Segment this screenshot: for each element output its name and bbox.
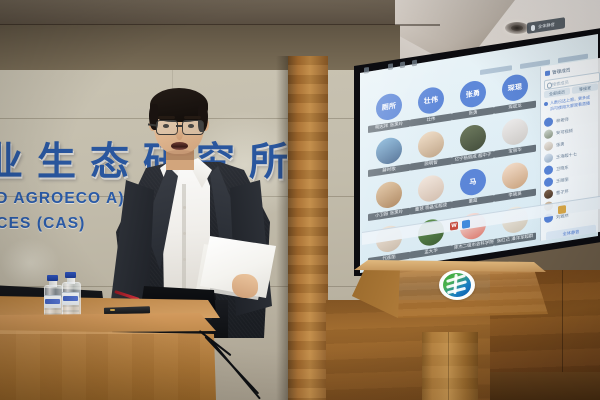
avatar — [544, 117, 553, 127]
podium-column-edge — [448, 332, 449, 400]
participant-name: 董超 — [452, 195, 494, 208]
mouth — [171, 142, 188, 150]
participant-name: 琛琨龙 — [494, 101, 536, 114]
avatar: 马 — [460, 167, 486, 197]
link-icon[interactable] — [412, 60, 417, 67]
mic-tooltip: 全体静音 — [527, 17, 565, 34]
participant-name: 李晓英 — [494, 189, 536, 202]
window-icon[interactable] — [364, 67, 369, 74]
panel-title: 管理成员 — [552, 67, 570, 76]
folder-icon[interactable] — [558, 204, 566, 213]
participant-name: 壮伟 — [410, 113, 452, 126]
avatar — [544, 129, 553, 139]
participant-name: 王海超十七 — [556, 151, 577, 160]
avatar — [502, 117, 528, 147]
table-front-grain — [0, 330, 222, 400]
participant-name: 明志祥 张黑玲 — [368, 120, 410, 133]
bottle-cap — [47, 275, 58, 281]
participant-name: 宝丽华 — [494, 145, 536, 158]
bottle-label-band — [63, 296, 78, 301]
podium-neck — [416, 314, 482, 336]
microphone-icon — [531, 24, 535, 31]
participant-name: 张勇 — [452, 107, 494, 120]
participant-name: 董慧 杨晶生超成 — [410, 201, 452, 214]
wooden-podium — [352, 248, 548, 400]
people-icon — [545, 70, 550, 76]
eyeglass-lens-left — [156, 120, 178, 135]
avatar: 壮伟 — [418, 86, 444, 116]
participant-name: 顾明智 — [410, 157, 452, 170]
avatar: 张勇 — [460, 79, 486, 109]
avatar — [544, 141, 553, 151]
projection-screen: 厕所 明志祥 张黑玲 壮伟 壮伟 张勇 张勇 琛琨 琛琨龙 薛时歌 — [326, 28, 600, 278]
avatar — [544, 165, 553, 175]
bottle-cap — [65, 272, 76, 278]
conference-room-photo: 业生态研究所 ND AGROECO A) NCES (CAS) — [0, 0, 600, 400]
top-action-security[interactable] — [480, 65, 512, 75]
shirt-placket — [182, 184, 186, 300]
table-edge — [0, 313, 222, 333]
avatar: 厕所 — [376, 92, 402, 122]
avatar — [544, 153, 553, 163]
avatar — [376, 136, 402, 166]
nose — [176, 128, 183, 140]
shirt-button — [183, 258, 186, 261]
avatar — [418, 174, 444, 204]
participant-name: 王丽丽 — [556, 176, 569, 184]
avatar — [460, 123, 486, 153]
bottle-label-band — [45, 299, 60, 304]
podium-column-grain — [422, 332, 478, 400]
participant-name: 安可视频 — [556, 127, 573, 136]
podium-left-face — [352, 266, 406, 318]
institute-globe-logo — [443, 273, 471, 297]
participant-name: 亿宁杨佩成 超中子 — [452, 151, 494, 164]
ceiling-left-panel — [0, 0, 430, 26]
eyeglass-bridge — [176, 125, 183, 127]
avatar — [376, 180, 402, 210]
word-icon[interactable]: W — [450, 221, 458, 230]
shirt-button — [183, 206, 186, 209]
meeting-app-window: 厕所 明志祥 张黑玲 壮伟 壮伟 张勇 张勇 琛琨 琛琨龙 薛时歌 — [362, 0, 600, 268]
meeting-icon[interactable] — [462, 219, 470, 228]
eyebrow-left — [158, 116, 175, 119]
wooden-column-grain — [288, 56, 328, 400]
participant-name: 卫晓东 — [556, 164, 569, 172]
eyeglass-lens-right — [182, 120, 204, 135]
power-strip-led — [110, 309, 115, 311]
participant-name: 小卫报 张黑玲 — [368, 208, 410, 221]
chin-shadow — [166, 150, 194, 156]
share-icon[interactable] — [400, 61, 405, 68]
participant-name: 曹子芹 — [556, 188, 569, 196]
participant-name: 薛时歌 — [368, 164, 410, 177]
participant-name: 张勇 — [556, 141, 564, 148]
avatar — [544, 189, 553, 199]
avatar — [418, 130, 444, 160]
mic-tooltip-label: 全体静音 — [538, 21, 555, 31]
avatar — [502, 161, 528, 191]
participant-name: 林老师 — [556, 116, 569, 124]
pin-icon[interactable] — [388, 63, 393, 70]
avatar: 琛琨 — [502, 73, 528, 103]
shirt-button — [183, 232, 186, 235]
participants-panel: 管理成员 搜索成员 全部成员 等候室 人数已达上限，更多成 员可使用大屏观看直播… — [540, 58, 600, 245]
avatar — [544, 177, 553, 187]
eyebrow-right — [184, 116, 201, 119]
info-icon — [544, 102, 548, 107]
hand-right — [232, 274, 258, 298]
